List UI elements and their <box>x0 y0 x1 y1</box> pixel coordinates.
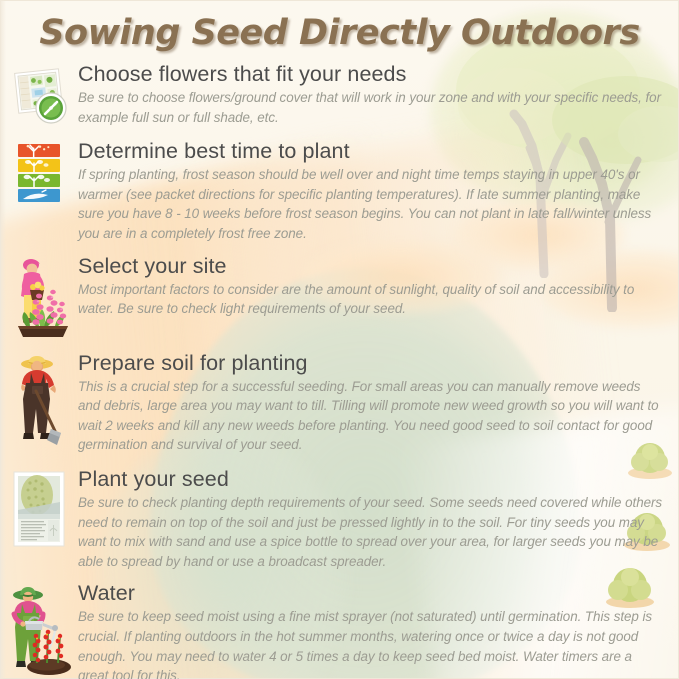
step-icon-wrapper <box>0 351 78 449</box>
step-heading: Prepare soil for planting <box>78 351 663 376</box>
farmer-with-shovel-icon <box>8 353 70 449</box>
step-description: If spring planting, frost season should … <box>78 165 663 243</box>
step-body: Prepare soil for planting This is a cruc… <box>78 351 679 455</box>
step-icon-wrapper <box>0 62 78 126</box>
step-heading: Plant your seed <box>78 467 663 492</box>
step-body: Determine best time to plant If spring p… <box>78 139 679 243</box>
step-icon-wrapper <box>0 581 78 677</box>
step-item-choose-flowers: Choose flowers that fit your needs Be su… <box>0 62 679 127</box>
page-title: Sowing Seed Directly Outdoors <box>0 13 679 53</box>
step-description: Most important factors to consider are t… <box>78 280 663 319</box>
seed-packet-icon <box>10 469 68 549</box>
step-item-water: Water Be sure to keep seed moist using a… <box>0 581 679 679</box>
step-description: This is a crucial step for a successful … <box>78 377 663 455</box>
gardener-watering-can-icon <box>3 583 75 677</box>
step-item-plant-seed: Plant your seed Be sure to check plantin… <box>0 467 679 571</box>
four-seasons-icon <box>10 141 68 207</box>
step-body: Select your site Most important factors … <box>78 254 679 319</box>
step-item-select-site: Select your site Most important factors … <box>0 254 679 340</box>
step-heading: Water <box>78 581 663 606</box>
step-body: Choose flowers that fit your needs Be su… <box>78 62 679 127</box>
garden-plan-compass-icon <box>8 64 70 126</box>
flower-planter-gardener-icon <box>6 256 72 340</box>
step-description: Be sure to keep seed moist using a fine … <box>78 607 663 679</box>
step-body: Water Be sure to keep seed moist using a… <box>78 581 679 679</box>
step-description: Be sure to check planting depth requirem… <box>78 493 663 571</box>
step-icon-wrapper <box>0 139 78 207</box>
steps-list: Choose flowers that fit your needs Be su… <box>0 62 679 679</box>
step-heading: Select your site <box>78 254 663 279</box>
step-body: Plant your seed Be sure to check plantin… <box>78 467 679 571</box>
step-description: Be sure to choose flowers/ground cover t… <box>78 88 663 127</box>
infographic-poster: Sowing Seed Directly Outdoors <box>0 0 679 679</box>
step-heading: Choose flowers that fit your needs <box>78 62 663 87</box>
step-icon-wrapper <box>0 254 78 340</box>
step-heading: Determine best time to plant <box>78 139 663 164</box>
step-item-determine-time: Determine best time to plant If spring p… <box>0 139 679 243</box>
step-item-prepare-soil: Prepare soil for planting This is a cruc… <box>0 351 679 455</box>
step-icon-wrapper <box>0 467 78 549</box>
